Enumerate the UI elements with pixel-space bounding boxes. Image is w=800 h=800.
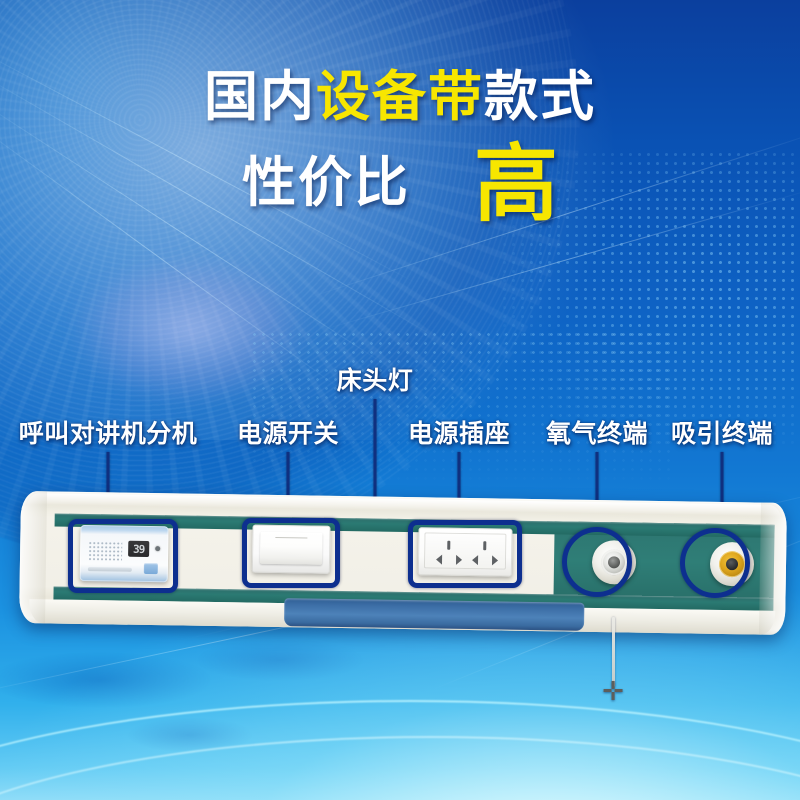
highlight-box-power-switch <box>242 518 340 588</box>
headline-line2-part1: 性价比 <box>242 153 410 213</box>
headline-line2-highlight: 高 <box>474 137 558 231</box>
headline-line-2: 性价比高 <box>0 142 800 226</box>
pull-cord-handle[interactable]: ✛ <box>600 678 626 704</box>
callout-power-socket-label: 电源插座 <box>408 414 510 450</box>
headline-line1-highlight: 设备带 <box>316 67 484 127</box>
bed-lamp-reflector[interactable] <box>284 598 584 631</box>
poster-canvas: 国内设备带款式 性价比高 呼叫对讲机分机 电源开关 床头灯 电源插座 氧气终端 … <box>0 0 800 800</box>
headline-line-1: 国内设备带款式 <box>0 70 800 124</box>
highlight-box-power-socket <box>408 520 522 588</box>
unit-end-cap-right <box>759 503 787 635</box>
callout-suction-terminal-label: 吸引终端 <box>671 414 773 450</box>
headline-line1-part1: 国内 <box>204 67 316 127</box>
callout-intercom-label: 呼叫对讲机分机 <box>19 414 198 450</box>
headline-block: 国内设备带款式 性价比高 <box>0 70 800 226</box>
highlight-box-intercom <box>68 519 178 593</box>
unit-end-cap-left <box>19 491 47 623</box>
callout-bed-lamp-label: 床头灯 <box>337 361 414 397</box>
highlight-ring-suction-terminal <box>680 528 750 598</box>
callout-power-switch-label: 电源开关 <box>237 414 339 450</box>
headline-line1-part3: 款式 <box>484 67 596 127</box>
callout-oxygen-terminal-label: 氧气终端 <box>546 414 648 450</box>
highlight-ring-oxygen-terminal <box>562 527 632 597</box>
